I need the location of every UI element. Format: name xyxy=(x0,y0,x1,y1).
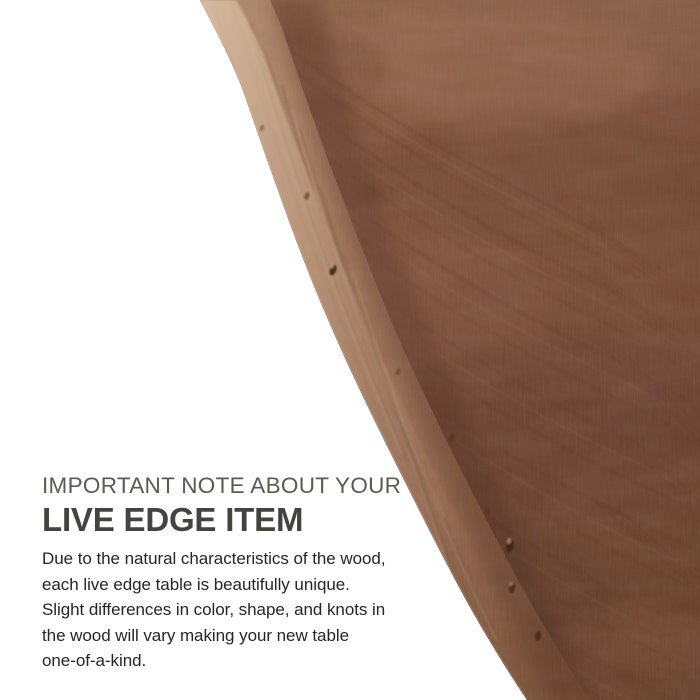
body-line: the wood will vary making your new table xyxy=(42,623,394,649)
body-line: Slight differences in color, shape, and … xyxy=(42,597,394,623)
note-text-block: IMPORTANT NOTE ABOUT YOUR LIVE EDGE ITEM… xyxy=(42,472,394,674)
body-copy: Due to the natural characteristics of th… xyxy=(42,546,394,674)
body-line: each live edge table is beautifully uniq… xyxy=(42,572,394,598)
kicker-line: IMPORTANT NOTE ABOUT YOUR xyxy=(42,472,394,499)
product-note-graphic: IMPORTANT NOTE ABOUT YOUR LIVE EDGE ITEM… xyxy=(0,0,700,700)
headline: LIVE EDGE ITEM xyxy=(42,500,394,539)
body-line: Due to the natural characteristics of th… xyxy=(42,546,394,572)
body-line: one-of-a-kind. xyxy=(42,648,394,674)
